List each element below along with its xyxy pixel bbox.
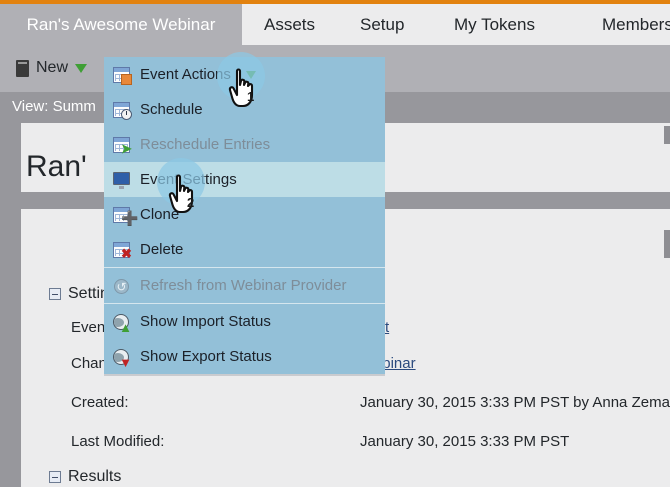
view-label: View: Summ (12, 98, 96, 115)
monitor-icon (113, 171, 131, 189)
menu-item-refresh-from-webinar-provider: ↺ Refresh from Webinar Provider (104, 268, 385, 303)
detail-value-event-provider[interactable]: t (385, 319, 389, 336)
nav-tab-event[interactable]: Ran's Awesome Webinar (0, 4, 242, 45)
menu-item-label: Event Settings (140, 171, 237, 188)
section-header-results[interactable]: Results (49, 468, 121, 486)
page-title: Ran' (26, 150, 87, 184)
refresh-icon: ↺ (113, 277, 131, 295)
nav-tab-members[interactable]: Members (588, 4, 670, 45)
menu-item-show-export-status[interactable]: ▼ Show Export Status (104, 339, 385, 374)
nav-tab-label: My Tokens (454, 15, 535, 35)
detail-value-last-modified: January 30, 2015 3:33 PM PST (360, 433, 569, 450)
nav-tab-label: Assets (264, 15, 315, 35)
nav-tab-label: Ran's Awesome Webinar (27, 15, 216, 35)
menu-item-event-settings[interactable]: Event Settings (104, 162, 385, 197)
menu-item-label: Schedule (140, 101, 203, 118)
menu-item-clone[interactable]: ➕ Clone (104, 197, 385, 232)
menu-item-label: Refresh from Webinar Provider (140, 277, 346, 294)
detail-value-created: January 30, 2015 3:33 PM PST by Anna Zem… (360, 394, 670, 411)
scrollbar-thumb[interactable] (664, 126, 670, 144)
app-window: Ran's Awesome Webinar Assets Setup My To… (0, 0, 670, 487)
main-nav-bar: Ran's Awesome Webinar Assets Setup My To… (0, 4, 670, 45)
nav-tab-my-tokens[interactable]: My Tokens (440, 4, 549, 45)
menu-item-reschedule-entries: ➤ Reschedule Entries (104, 127, 385, 162)
detail-label-created: Created: (71, 394, 129, 411)
nav-tab-label: Members (602, 15, 670, 35)
new-button-label: New (36, 59, 68, 77)
new-button[interactable]: New (16, 55, 87, 81)
menu-item-event-actions[interactable]: Event Actions (104, 57, 385, 92)
collapse-minus-icon[interactable] (49, 471, 61, 483)
detail-label-last-modified: Last Modified: (71, 433, 164, 450)
menu-item-label: Clone (140, 206, 179, 223)
collapse-minus-icon[interactable] (49, 288, 61, 300)
nav-tab-label: Setup (360, 15, 404, 35)
caret-down-green-icon[interactable] (246, 71, 256, 79)
nav-tab-assets[interactable]: Assets (250, 4, 329, 45)
calendar-arrow-icon: ➤ (113, 136, 131, 154)
nav-tab-setup[interactable]: Setup (346, 4, 418, 45)
section-label: Results (68, 468, 121, 486)
scrollbar-thumb[interactable] (664, 230, 670, 258)
menu-item-schedule[interactable]: Schedule (104, 92, 385, 127)
menu-item-label: Show Import Status (140, 313, 271, 330)
calendar-orange-icon (113, 66, 131, 84)
database-icon (16, 60, 29, 77)
calendar-delete-icon: ✖ (113, 241, 131, 259)
event-actions-menu: Event Actions Schedule ➤ Reschedule Entr… (104, 57, 385, 376)
menu-item-label: Delete (140, 241, 183, 258)
caret-down-green-icon[interactable] (75, 64, 87, 73)
globe-export-icon: ▼ (113, 348, 131, 366)
menu-item-delete[interactable]: ✖ Delete (104, 232, 385, 267)
left-rail (0, 123, 21, 487)
menu-item-label: Show Export Status (140, 348, 272, 365)
menu-item-label: Reschedule Entries (140, 136, 270, 153)
globe-import-icon: ▲ (113, 313, 131, 331)
menu-item-label: Event Actions (140, 66, 231, 83)
menu-item-show-import-status[interactable]: ▲ Show Import Status (104, 304, 385, 339)
calendar-clock-icon (113, 101, 131, 119)
calendar-plus-icon: ➕ (113, 206, 131, 224)
